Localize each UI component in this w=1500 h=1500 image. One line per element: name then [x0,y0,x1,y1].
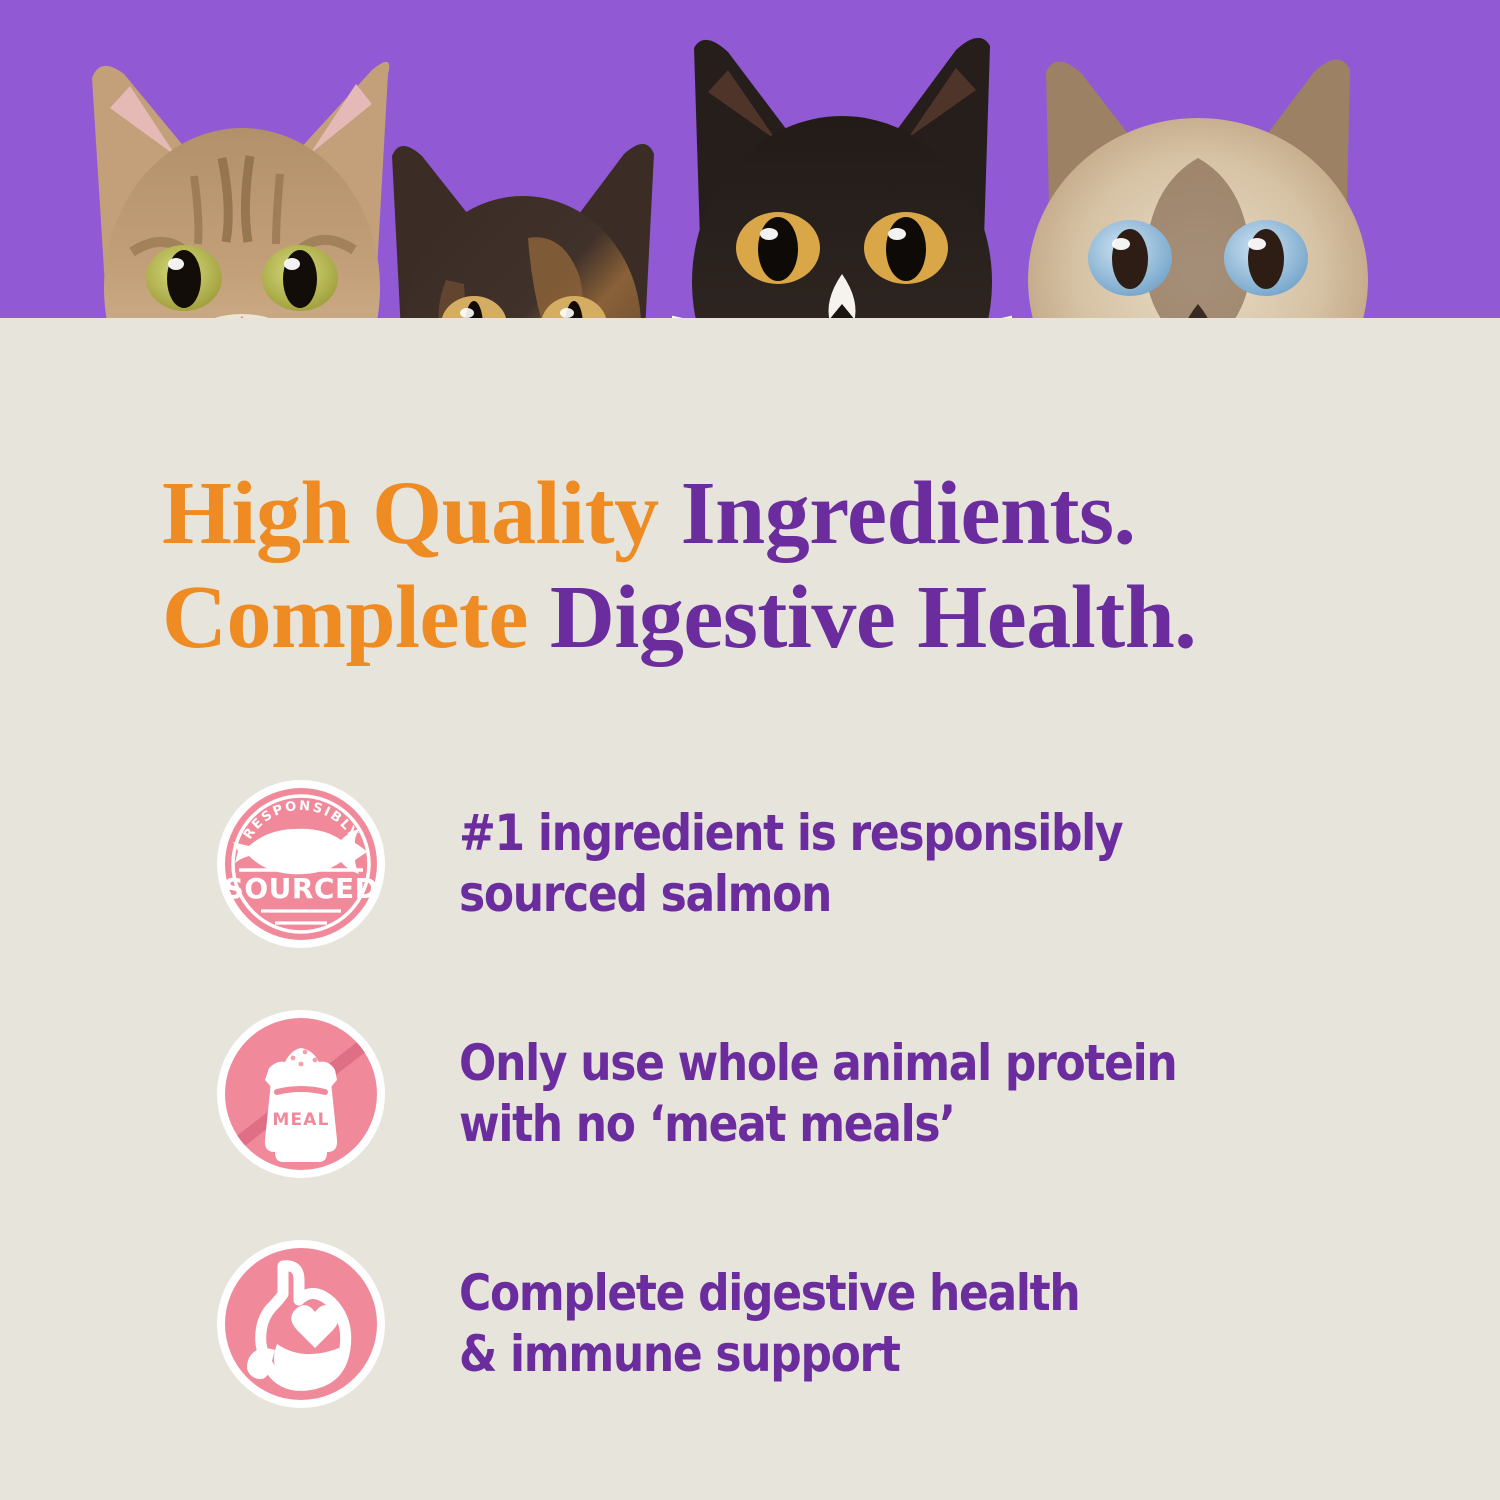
list-item: Complete digestive health & immune suppo… [0,1220,1500,1428]
page-title: High Quality Ingredients. Complete Diges… [162,462,1412,669]
list-item-label: Complete digestive health & immune suppo… [459,1263,1079,1385]
product-feature-panel: High Quality Ingredients. Complete Diges… [0,0,1500,1500]
badge-main-text: SOURCED [224,872,379,905]
list-item-label: #1 ingredient is responsibly sourced sal… [459,803,1122,925]
badge-main-text: MEAL [272,1110,329,1130]
hero-banner [0,0,1500,430]
headline-line-2-purple: Digestive Health. [550,568,1196,667]
hero-curved-divider [0,318,1500,430]
no-meat-meal-bag-icon: MEAL [215,1008,387,1180]
headline-line-1-purple: Ingredients. [681,464,1136,563]
list-item-label: Only use whole animal protein with no ‘m… [459,1033,1176,1155]
list-item: RESPONSIBLY SOURCED #1 ingredient is res… [0,760,1500,968]
list-item: MEAL Only use whole animal protein with … [0,990,1500,1198]
headline-line-1: High Quality Ingredients. [162,462,1412,566]
headline-line-2: Complete Digestive Health. [162,566,1412,670]
feature-list: RESPONSIBLY SOURCED #1 ingredient is res… [0,760,1500,1450]
responsibly-sourced-fish-badge-icon: RESPONSIBLY SOURCED [215,778,387,950]
stomach-heart-digestive-health-icon [215,1238,387,1410]
headline-line-1-orange: High Quality [162,464,681,563]
headline-line-2-orange: Complete [162,568,550,667]
